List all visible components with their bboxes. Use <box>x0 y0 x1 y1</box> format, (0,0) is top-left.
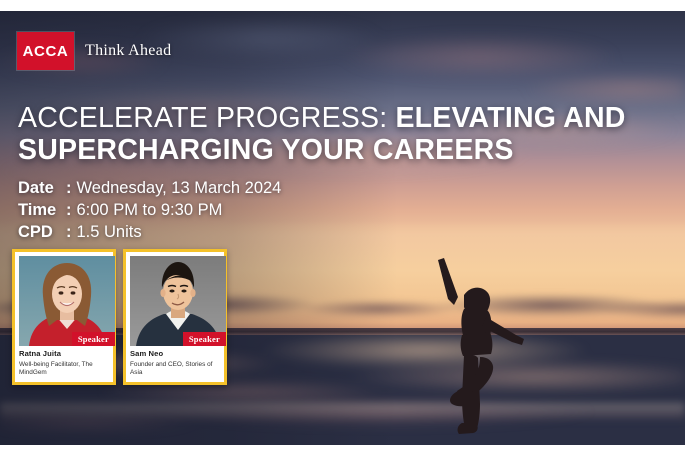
detail-value-time: 6:00 PM to 9:30 PM <box>77 200 223 222</box>
speaker-badge-2: Speaker <box>183 332 226 347</box>
detail-value-date: Wednesday, 13 March 2024 <box>77 178 282 200</box>
speaker-name-1: Ratna Juita <box>19 350 109 359</box>
acca-logo-mark: ACCA <box>17 32 74 70</box>
detail-label-date: Date <box>18 178 66 200</box>
detail-row-date: Date : Wednesday, 13 March 2024 <box>18 178 281 200</box>
speaker-name-2: Sam Neo <box>130 350 220 359</box>
detail-value-cpd: 1.5 Units <box>77 222 142 244</box>
detail-row-time: Time : 6:00 PM to 9:30 PM <box>18 200 281 222</box>
detail-separator-cpd: : <box>66 222 77 244</box>
event-banner: ACCA Think Ahead ACCELERATE PROGRESS: EL… <box>0 0 685 456</box>
speaker-role-2: Founder and CEO, Stories of Asia <box>130 361 220 377</box>
headline-light-part: ACCELERATE PROGRESS: <box>18 102 387 134</box>
headline: ACCELERATE PROGRESS: ELEVATING AND SUPER… <box>18 102 668 166</box>
speaker-badge-1: Speaker <box>72 332 115 347</box>
speaker-role-1: Well-being Facilitator, The MindGem <box>19 361 109 377</box>
detail-label-time: Time <box>18 200 66 222</box>
event-details: Date : Wednesday, 13 March 2024 Time : 6… <box>18 178 281 244</box>
letterbox-bar-top <box>0 0 685 11</box>
letterbox-bar-bottom <box>0 445 685 456</box>
speaker-cards: Speaker Ratna Juita Well-being Facilitat… <box>12 249 227 385</box>
detail-label-cpd: CPD <box>18 222 66 244</box>
detail-row-cpd: CPD : 1.5 Units <box>18 222 281 244</box>
banner-content: ACCA Think Ahead ACCELERATE PROGRESS: EL… <box>0 0 685 456</box>
speaker-photo-2: Speaker <box>130 256 226 346</box>
acca-tagline: Think Ahead <box>85 42 171 60</box>
detail-separator-time: : <box>66 200 77 222</box>
speaker-card-1: Speaker Ratna Juita Well-being Facilitat… <box>12 249 116 385</box>
speaker-photo-1: Speaker <box>19 256 115 346</box>
speaker-card-2: Speaker Sam Neo Founder and CEO, Stories… <box>123 249 227 385</box>
acca-logo-lockup: ACCA Think Ahead <box>17 32 171 70</box>
acca-logo-text: ACCA <box>23 43 69 60</box>
detail-separator-date: : <box>66 178 77 200</box>
